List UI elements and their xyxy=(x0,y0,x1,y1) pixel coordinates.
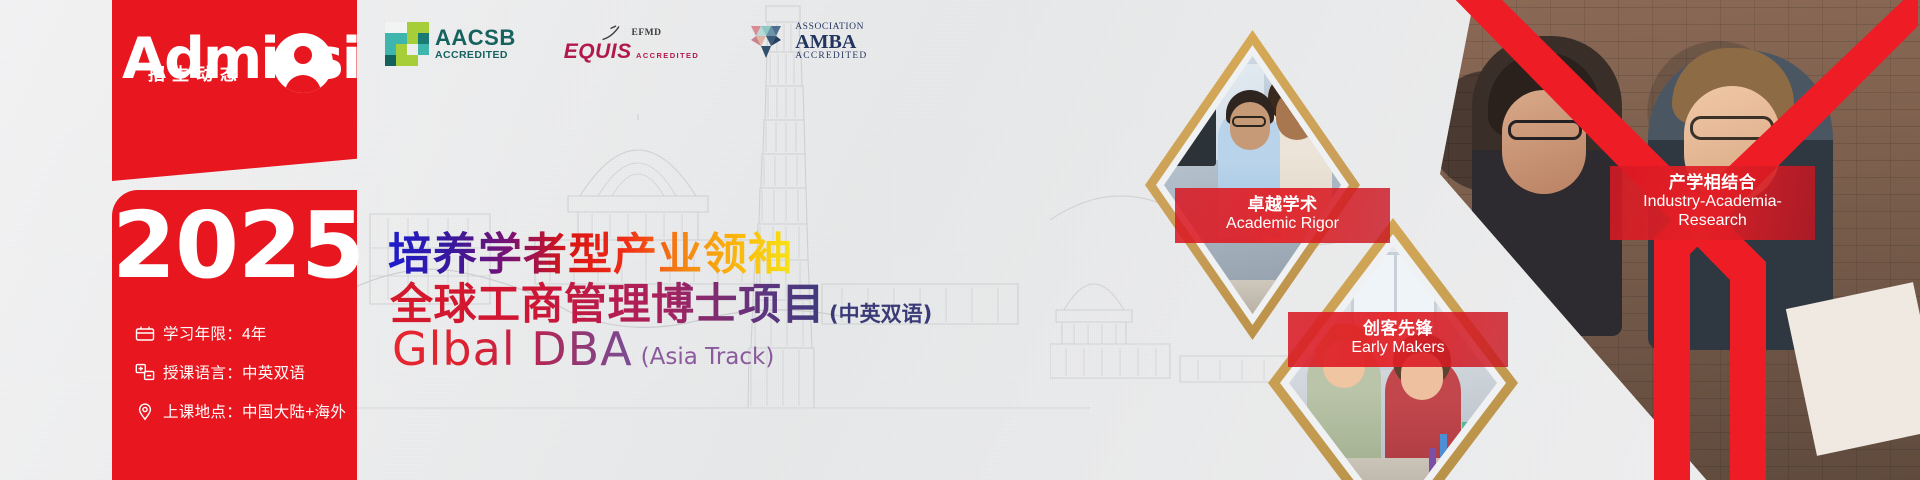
info-row-location: 上课地点：中国大陆+海外 xyxy=(134,400,349,422)
badge-label-en: Academic Rigor xyxy=(1191,215,1374,234)
badge-label-cn: 卓越学术 xyxy=(1191,195,1374,215)
info-text-language: 授课语言：中英双语 xyxy=(163,361,305,383)
badge-label-en: Early Makers xyxy=(1304,339,1492,358)
efmd-swoosh-icon xyxy=(601,25,627,41)
equis-title: EQUIS xyxy=(564,40,632,63)
aacsb-mark-icon xyxy=(385,22,429,66)
admission-wordmark-cn: 招生动态 xyxy=(148,60,244,85)
aacsb-text: AACSB ACCREDITED xyxy=(435,27,516,61)
equis-subtitle: ACCREDITED xyxy=(636,51,699,60)
info-text-location: 上课地点：中国大陆+海外 xyxy=(163,400,346,422)
info-row-duration: 学习年限：4年 xyxy=(134,322,349,344)
amba-diamond-icon xyxy=(747,22,789,62)
person-circle-icon xyxy=(273,33,333,93)
accreditation-logos: AACSB ACCREDITED EFMD EQUIS ACCREDITED xyxy=(385,22,867,66)
program-en-title: Glbal DBA xyxy=(392,322,633,376)
equis-logo: EFMD EQUIS ACCREDITED xyxy=(564,22,699,63)
badge-label-cn: 产学相结合 xyxy=(1626,173,1799,193)
amba-title: AMBA xyxy=(795,32,867,52)
amba-logo: ASSOCIATION AMBA ACCREDITED xyxy=(747,22,867,62)
aacsb-logo: AACSB ACCREDITED xyxy=(385,22,516,66)
eyeglasses-shape xyxy=(1232,116,1266,127)
badge-academic-rigor: 卓越学术 Academic Rigor xyxy=(1175,188,1390,243)
info-text-duration: 学习年限：4年 xyxy=(163,322,267,344)
program-en-row: Glbal DBA (Asia Track) xyxy=(392,322,774,376)
program-info-list: 学习年限：4年 授课语言：中英双语 xyxy=(134,322,349,439)
amba-text: ASSOCIATION AMBA ACCREDITED xyxy=(795,23,867,62)
equis-text: EFMD EQUIS ACCREDITED xyxy=(564,22,699,63)
badge-industry-academia-research: 产学相结合 Industry-Academia-Research xyxy=(1610,166,1815,240)
admission-banner: Admission 招生动态 2025 学习年限：4年 xyxy=(0,0,1920,480)
language-icon xyxy=(134,362,156,382)
info-row-language: 授课语言：中英双语 xyxy=(134,361,349,383)
program-en-note: (Asia Track) xyxy=(641,344,775,376)
desk-shape xyxy=(1289,458,1497,480)
year-label: 2025 xyxy=(112,196,357,296)
left-red-panel: Admission 招生动态 2025 学习年限：4年 xyxy=(0,0,345,480)
efmd-label: EFMD xyxy=(631,28,661,38)
amba-subtitle: ACCREDITED xyxy=(795,52,867,62)
aacsb-title: AACSB xyxy=(435,27,516,49)
aacsb-subtitle: ACCREDITED xyxy=(435,50,516,61)
location-pin-icon xyxy=(134,401,156,421)
calendar-icon xyxy=(134,323,156,343)
photo-collage: 卓越学术 Academic Rigor 产学相结合 Industry-Acade… xyxy=(1090,0,1920,480)
program-cn-note: (中英双语) xyxy=(829,298,932,332)
person-body-shape xyxy=(285,75,321,93)
person-head-shape xyxy=(294,46,312,64)
badge-early-makers: 创客先锋 Early Makers xyxy=(1288,312,1508,367)
badge-label-cn: 创客先锋 xyxy=(1304,319,1492,339)
badge-label-en: Industry-Academia-Research xyxy=(1626,193,1799,231)
